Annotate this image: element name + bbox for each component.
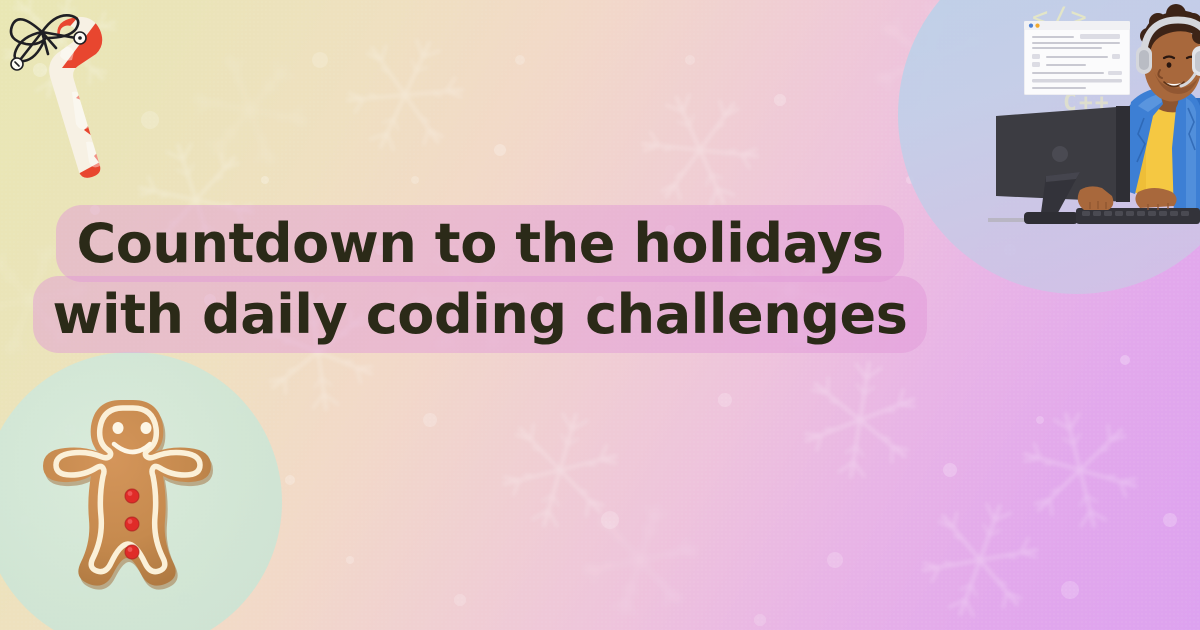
candy-cane [2, 2, 130, 178]
banner-headline: Countdown to the holidays with daily cod… [33, 205, 928, 353]
headline-container: Countdown to the holidays with daily cod… [0, 208, 960, 351]
gingerbread-man [28, 392, 238, 622]
developer-at-computer [988, 2, 1200, 234]
holiday-coding-banner: </> C++ [0, 0, 1200, 630]
